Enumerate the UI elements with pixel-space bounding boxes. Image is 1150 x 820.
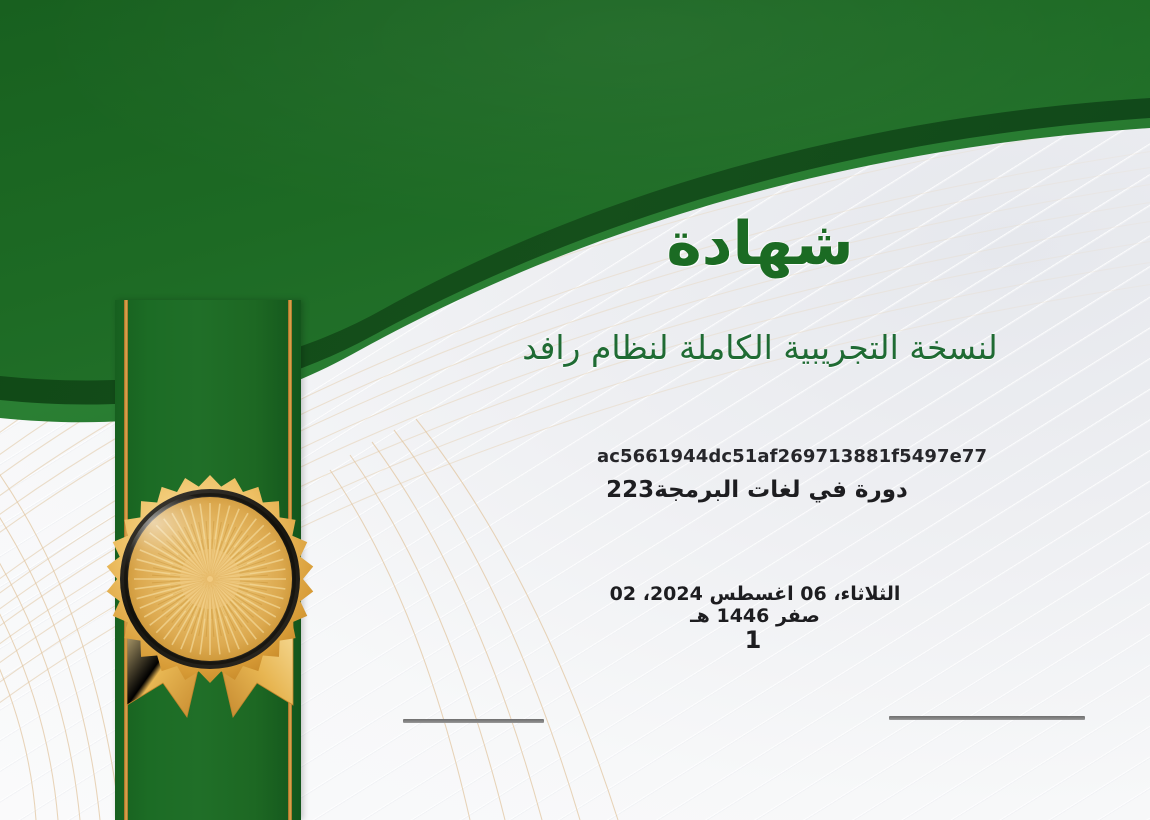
signature-line-right [889, 716, 1085, 720]
sequence-number: 1 [708, 626, 798, 654]
certificate-page: شهادة لنسخة التجريبية الكاملة لنظام رافد… [0, 0, 1150, 820]
course-name: دورة في لغات البرمجة223 [597, 477, 917, 503]
certificate-title: شهادة [480, 213, 1040, 276]
medal-gloss [115, 495, 243, 599]
signature-line-left [403, 719, 544, 723]
issue-date: الثلاثاء، 06 اغسطس 2024، 02 صفر 1446 هـ [585, 583, 925, 627]
verification-hash: ac5661944dc51af269713881f5497e77 [597, 446, 917, 467]
award-medal-icon [75, 455, 345, 755]
certificate-subtitle: لنسخة التجريبية الكاملة لنظام رافد [480, 327, 1040, 368]
